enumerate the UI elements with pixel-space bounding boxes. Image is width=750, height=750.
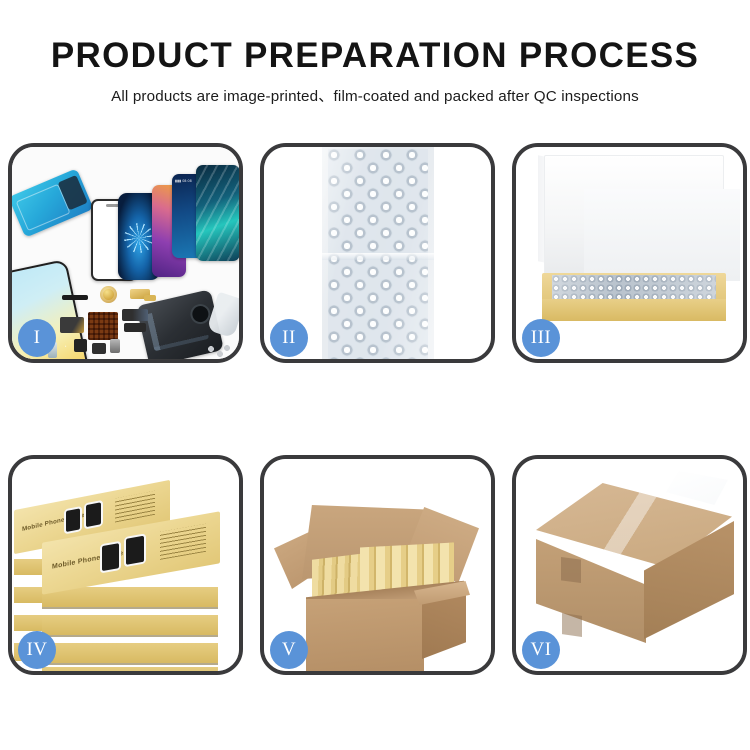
carton-handle-tab-lower (562, 613, 582, 637)
screws-set (208, 345, 230, 359)
right-flex-cable-2 (124, 323, 146, 332)
stack-edge-2 (42, 663, 218, 665)
teal-wave-phone (196, 165, 239, 261)
step-panel-3[interactable]: III (512, 143, 747, 363)
page-title: PRODUCT PREPARATION PROCESS (0, 36, 750, 75)
step-badge-5: V (270, 631, 308, 669)
product-preparation-infographic: PRODUCT PREPARATION PROCESS All products… (0, 0, 750, 750)
stack-box-front-1 (42, 667, 218, 671)
stack-edge-4 (42, 607, 218, 609)
bubble-wrap-pouch (322, 147, 434, 359)
stack-box-rear-speclines (115, 491, 155, 523)
carton-front-face (306, 599, 424, 671)
stack-box-front-2 (42, 643, 218, 663)
kraft-box-front-wall (542, 299, 726, 321)
right-flex-cable (122, 309, 148, 321)
stack-box-front-speclines (160, 524, 206, 560)
contents-sheen (552, 275, 716, 301)
box-lid (544, 155, 724, 275)
step-panel-6[interactable]: VI (512, 455, 747, 675)
header: PRODUCT PREPARATION PROCESS All products… (0, 36, 750, 106)
stack-box-rear-screen-b (86, 502, 101, 527)
earpiece-mesh-part (62, 295, 88, 300)
step-badge-4: IV (18, 631, 56, 669)
step-panel-5[interactable]: V (260, 455, 495, 675)
step-badge-3: III (522, 319, 560, 357)
box-lid-inner-face (584, 189, 740, 281)
wireless-charging-coil (100, 286, 117, 303)
step-panel-2[interactable]: II (260, 143, 495, 363)
component-chip-3 (110, 339, 120, 353)
stack-box-rear-screen-a (66, 508, 80, 532)
copper-grid-part (88, 312, 118, 340)
component-chip-2 (92, 343, 106, 354)
step-badge-6: VI (522, 631, 560, 669)
stack-box-front-screen-a (102, 543, 119, 571)
stack-box-front-3 (42, 615, 218, 635)
step-badge-1: I (18, 319, 56, 357)
steps-grid: ▮▮▮ 08:08 I (8, 143, 748, 675)
plastic-sheen (322, 147, 434, 359)
step-badge-2: II (270, 319, 308, 357)
stack-edge-3 (42, 635, 218, 637)
stack-box-front-screen-b (126, 536, 144, 565)
left-flex-cable (60, 317, 84, 333)
carton-handle-tab-upper (561, 557, 581, 583)
page-subtitle: All products are image-printed、film-coat… (0, 84, 750, 106)
component-chip-1 (74, 339, 87, 352)
step-panel-1[interactable]: ▮▮▮ 08:08 I (8, 143, 243, 363)
gold-flex-tab-small (144, 295, 156, 301)
step-panel-4[interactable]: Mobile Phone Spare Parts M (8, 455, 243, 675)
packing-tape-flap (666, 471, 728, 505)
